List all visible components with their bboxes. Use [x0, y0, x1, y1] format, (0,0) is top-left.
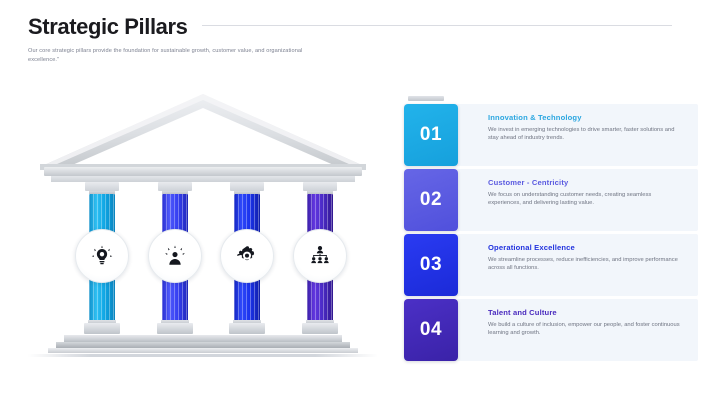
pillar-4-badge[interactable]	[293, 229, 347, 283]
pillar-1-capital	[85, 182, 119, 191]
list-item[interactable]: 01 Innovation & Technology We invest in …	[404, 104, 698, 166]
pillar-2-capital	[158, 182, 192, 191]
pillar-3-base	[229, 323, 265, 334]
pillar-4	[303, 182, 337, 334]
pillar-1	[85, 182, 119, 334]
pillar-row-text: Customer - Centricity We focus on unders…	[458, 169, 698, 231]
rail-cap-top	[408, 96, 444, 101]
list-item[interactable]: 02 Customer - Centricity We focus on und…	[404, 169, 698, 231]
user-idea-icon	[164, 245, 186, 267]
pillar-row-text: Talent and Culture We build a culture of…	[458, 299, 698, 361]
pillar-row-text: Operational Excellence We streamline pro…	[458, 234, 698, 296]
list-item[interactable]: 04 Talent and Culture We build a culture…	[404, 299, 698, 361]
pillar-number-badge: 01	[404, 104, 458, 166]
pillar-description: We focus on understanding customer needs…	[488, 191, 684, 208]
pillar-number-badge: 03	[404, 234, 458, 296]
entablature-upper	[44, 167, 362, 176]
page-title: Strategic Pillars	[28, 14, 188, 40]
pillar-row-text: Innovation & Technology We invest in eme…	[458, 104, 698, 166]
pillar-4-base	[302, 323, 338, 334]
pillar-description: We build a culture of inclusion, empower…	[488, 321, 684, 338]
pillar-2	[158, 182, 192, 334]
pillar-1-badge[interactable]	[75, 229, 129, 283]
pillar-title: Customer - Centricity	[488, 178, 684, 187]
pillar-3	[230, 182, 264, 334]
pillar-rows: 01 Innovation & Technology We invest in …	[404, 104, 698, 364]
pillar-title: Talent and Culture	[488, 308, 684, 317]
pillar-description: We streamline processes, reduce ineffici…	[488, 256, 684, 273]
plinth-step-1	[64, 335, 342, 342]
pillar-1-base	[84, 323, 120, 334]
title-divider	[202, 25, 672, 26]
pediment-roof	[40, 92, 366, 170]
ground-shadow	[28, 354, 378, 357]
lightbulb-icon	[91, 245, 113, 267]
pillar-2-base	[157, 323, 193, 334]
slide-canvas: Strategic Pillars Our core strategic pil…	[0, 0, 720, 404]
pillars-list-panel: 01 Innovation & Technology We invest in …	[404, 96, 698, 360]
temple-illustration	[28, 92, 378, 360]
pillar-2-badge[interactable]	[148, 229, 202, 283]
org-chart-icon	[309, 245, 331, 267]
pillar-description: We invest in emerging technologies to dr…	[488, 126, 684, 143]
pillar-3-badge[interactable]	[220, 229, 274, 283]
pillar-number-badge: 02	[404, 169, 458, 231]
pillar-4-capital	[303, 182, 337, 191]
pillar-title: Operational Excellence	[488, 243, 684, 252]
header: Strategic Pillars Our core strategic pil…	[28, 14, 698, 60]
gear-icon	[236, 245, 258, 267]
page-subtitle: Our core strategic pillars provide the f…	[28, 47, 328, 65]
plinth-step-3	[48, 348, 358, 353]
pillar-number-badge: 04	[404, 299, 458, 361]
pillar-title: Innovation & Technology	[488, 113, 684, 122]
pillar-3-capital	[230, 182, 264, 191]
list-item[interactable]: 03 Operational Excellence We streamline …	[404, 234, 698, 296]
